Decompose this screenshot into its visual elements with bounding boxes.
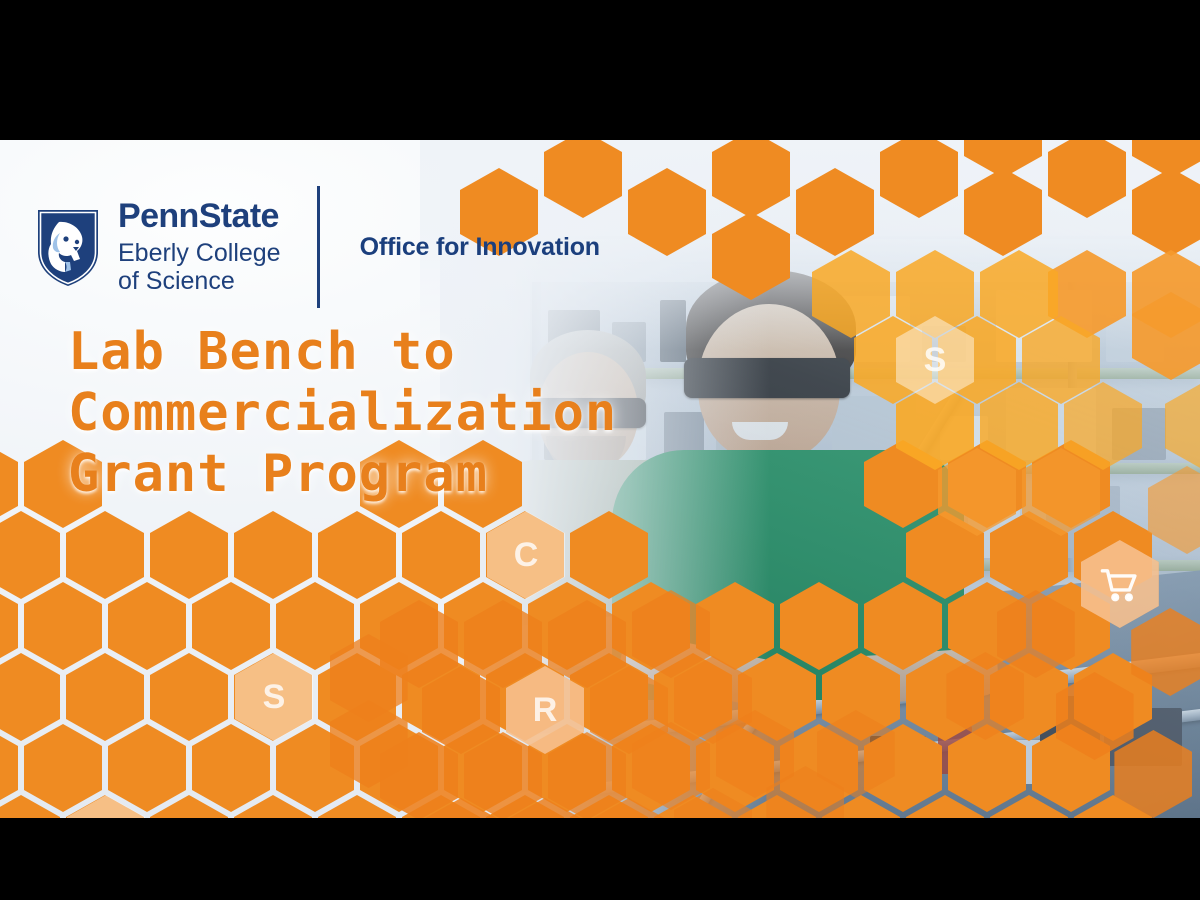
letterbox-bottom [0, 818, 1200, 900]
hexagon-tile [66, 795, 144, 818]
hexagon-tile [318, 511, 396, 599]
hexagon-tile [0, 582, 18, 670]
hexagon-tile [108, 724, 186, 812]
headline-line-2: Commercialization [68, 383, 617, 444]
hexagon-tile [276, 724, 354, 812]
hexagon-tile [330, 634, 408, 722]
hexagon-tile [0, 724, 18, 812]
headline-line-1: Lab Bench to [68, 322, 617, 383]
hexagon-tile [234, 511, 312, 599]
headline-line-3: Grant Program [68, 444, 617, 505]
hexagon-tile [0, 795, 60, 818]
hexagon-tile [330, 700, 408, 788]
hexagon-tile [192, 724, 270, 812]
hexagon-tile [66, 653, 144, 741]
hexagon-tile [0, 653, 60, 741]
dollar-icon-glyph: S [76, 806, 135, 818]
college-name-line1: Eberly College [118, 239, 281, 267]
hexagon-tile [66, 511, 144, 599]
page-title: Lab Bench to Commercialization Grant Pro… [68, 322, 617, 504]
penn-state-wordmark: PennState [118, 199, 281, 233]
hexagon-tile [234, 653, 312, 741]
lockup-divider [317, 186, 320, 308]
hexagon-tile [360, 582, 438, 670]
hexagon-tile [108, 582, 186, 670]
hexagon-tile [360, 724, 438, 812]
college-name-line2: of Science [118, 267, 281, 295]
office-for-innovation-label: Office for Innovation [360, 233, 600, 262]
hexagon-tile [0, 440, 18, 528]
poster-canvas: CSS S R PennState Eberly College of Scie… [0, 0, 1200, 900]
hexagon-tile [150, 511, 228, 599]
hexagon-tile [234, 795, 312, 818]
hexagon-tile [318, 653, 396, 741]
banner-artwork: CSS S R PennState Eberly College of Scie… [0, 140, 1200, 818]
dollar-icon-glyph: S [244, 664, 303, 731]
hexagon-tile [0, 511, 60, 599]
logo-lockup: PennState Eberly College of Science Offi… [36, 186, 600, 308]
dollar-icon: S [67, 795, 145, 818]
hexagon-tile [318, 795, 396, 818]
penn-state-wordmark-block: PennState Eberly College of Science [118, 199, 281, 295]
penn-state-nittany-lion-shield-icon [36, 206, 100, 288]
hexagon-tile [24, 582, 102, 670]
hexagon-tile [192, 582, 270, 670]
letterbox-top [0, 0, 1200, 140]
hexagon-tile [24, 724, 102, 812]
dollar-icon: S [235, 653, 313, 741]
hexagon-tile [150, 795, 228, 818]
hexagon-tile [150, 653, 228, 741]
hexagon-tile [276, 582, 354, 670]
